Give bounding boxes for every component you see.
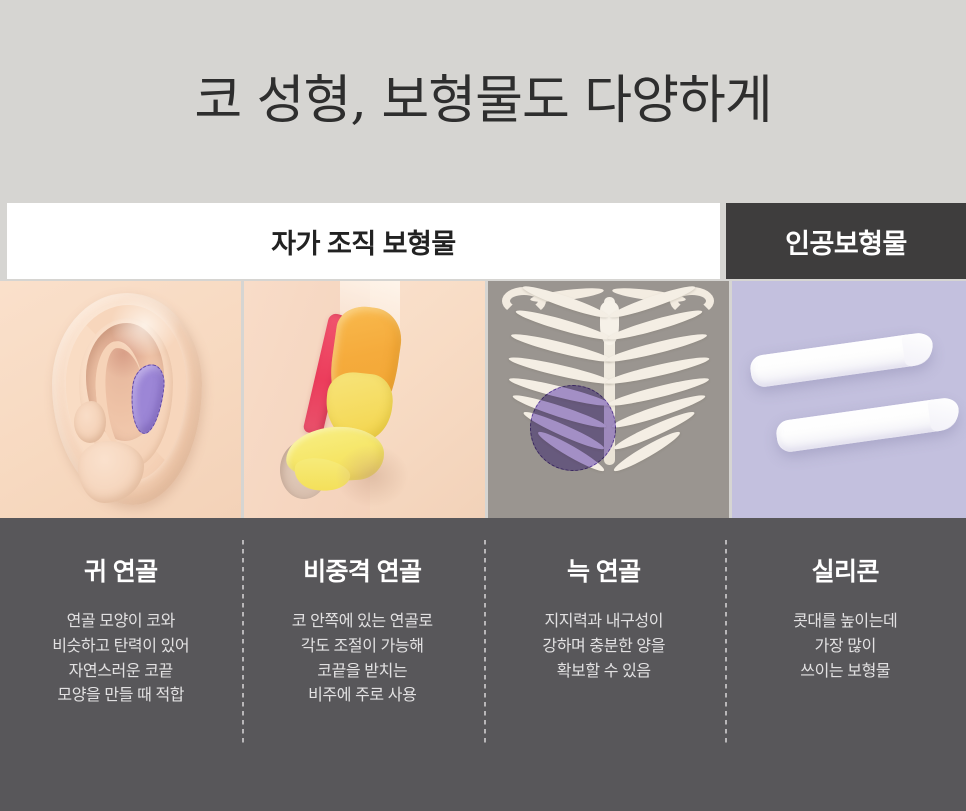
silicone-implant-lower — [775, 396, 960, 453]
column-title-ear: 귀 연골 — [0, 552, 242, 588]
column-body-ear: 연골 모양이 코와 비슷하고 탄력이 있어 자연스러운 코끝 모양을 만들 때 … — [0, 610, 242, 709]
column-title-rib: 늑 연골 — [483, 552, 725, 588]
page-title: 코 성형, 보형물도 다양하게 — [194, 58, 771, 133]
ear-highlight — [110, 293, 180, 357]
header-artificial-implant: 인공보형물 — [726, 203, 966, 279]
header-autologous-tissue: 자가 조직 보형물 — [7, 203, 720, 279]
header-autologous-label: 자가 조직 보형물 — [271, 222, 455, 261]
description-column-rib: 늑 연골 지지력과 내구성이 강하며 충분한 양을 확보할 수 있음 — [483, 518, 725, 811]
column-title-silicone: 실리콘 — [725, 552, 966, 588]
column-divider-3 — [725, 540, 727, 745]
description-column-silicone: 실리콘 콧대를 높이는데 가장 많이 쓰이는 보형물 — [725, 518, 966, 811]
column-divider-1 — [242, 540, 244, 745]
description-panel: 귀 연골 연골 모양이 코와 비슷하고 탄력이 있어 자연스러운 코끝 모양을 … — [0, 518, 966, 811]
header-artificial-label: 인공보형물 — [785, 222, 907, 261]
silicone-implant-lower-tip — [927, 396, 961, 432]
description-column-ear: 귀 연골 연골 모양이 코와 비슷하고 탄력이 있어 자연스러운 코끝 모양을 … — [0, 518, 242, 811]
nose-tip-shadow — [336, 445, 408, 507]
description-column-septum: 비중격 연골 코 안쪽에 있는 연골로 각도 조절이 가능해 코끝을 받치는 비… — [242, 518, 484, 811]
column-title-septum: 비중격 연골 — [242, 552, 484, 588]
column-body-rib: 지지력과 내구성이 강하며 충분한 양을 확보할 수 있음 — [483, 610, 725, 684]
column-divider-2 — [484, 540, 486, 745]
category-header-row: 자가 조직 보형물 인공보형물 — [0, 203, 966, 279]
title-area: 코 성형, 보형물도 다양하게 — [0, 0, 966, 190]
silicone-implant-image — [732, 281, 966, 518]
column-body-septum: 코 안쪽에 있는 연골로 각도 조절이 가능해 코끝을 받치는 비주에 주로 사… — [242, 610, 484, 709]
rib-cartilage-image — [488, 281, 729, 518]
septum-cartilage-image — [244, 281, 485, 518]
ear-cartilage-image — [0, 281, 241, 518]
silicone-implant-upper-tip — [901, 331, 935, 367]
rib-cartilage-highlight-region — [530, 385, 616, 471]
silicone-implant-upper — [749, 331, 934, 388]
column-body-silicone: 콧대를 높이는데 가장 많이 쓰이는 보형물 — [725, 610, 966, 684]
ear-tragus-shape — [74, 401, 106, 443]
illustration-row — [0, 281, 966, 518]
